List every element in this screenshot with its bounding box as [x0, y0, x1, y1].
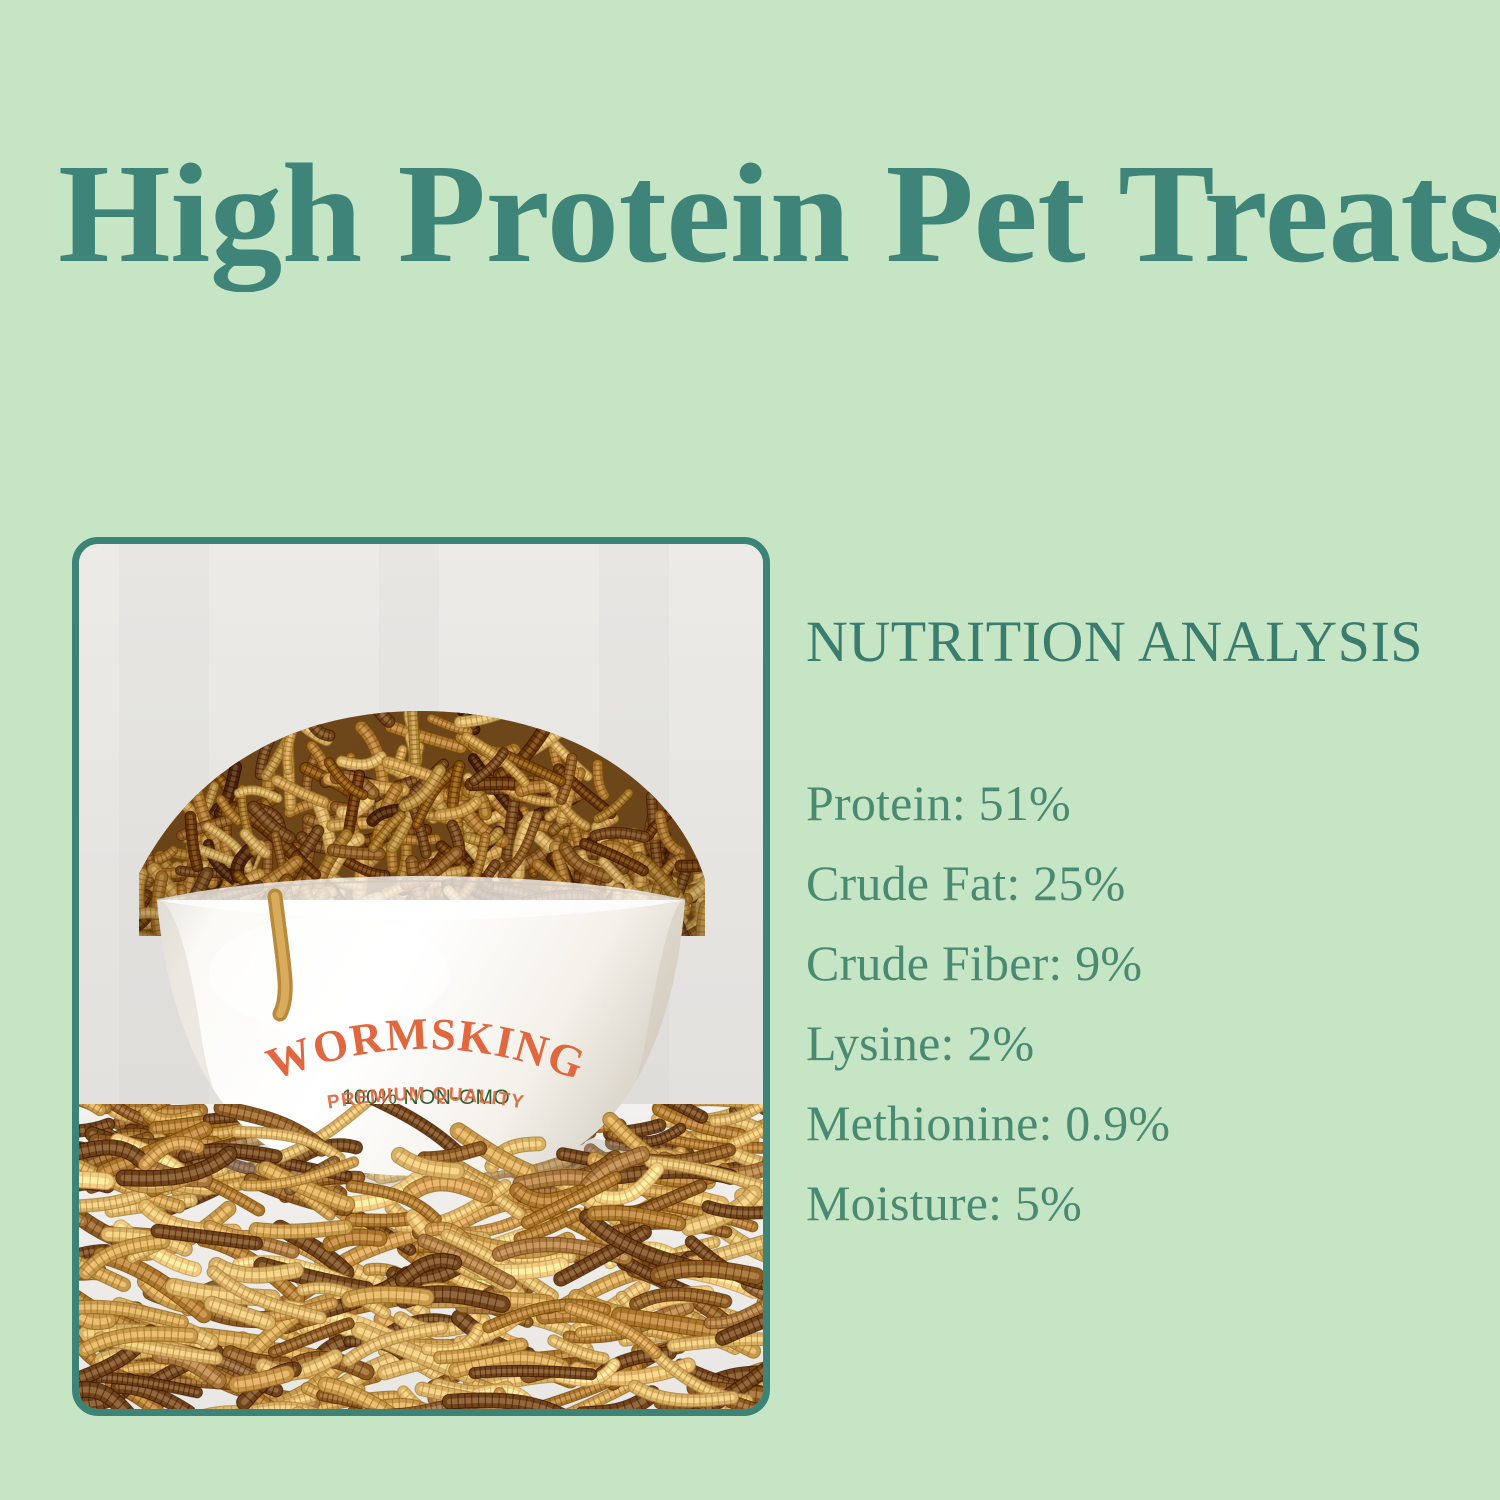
nutrition-item: Protein: 51% [806, 763, 1466, 843]
product-photo-frame: WORMSKING 100% NON-GMO PREMIUM QUALITY [72, 537, 770, 1416]
page-title: High Protein Pet Treats [58, 142, 1486, 284]
product-photo [79, 544, 763, 1409]
nutrition-item: Lysine: 2% [806, 1003, 1466, 1083]
nutrition-list: Protein: 51%Crude Fat: 25%Crude Fiber: 9… [806, 763, 1466, 1243]
nutrition-item: Moisture: 5% [806, 1163, 1466, 1243]
nutrition-item: Crude Fat: 25% [806, 843, 1466, 923]
nutrition-item: Methionine: 0.9% [806, 1083, 1466, 1163]
mealworm-bowl-illustration [79, 544, 763, 1409]
nutrition-item: Crude Fiber: 9% [806, 923, 1466, 1003]
nutrition-panel: NUTRITION ANALYSIS Protein: 51%Crude Fat… [806, 612, 1466, 1243]
product-infographic-page: High Protein Pet Treats [0, 0, 1500, 1500]
nutrition-heading: NUTRITION ANALYSIS [806, 612, 1466, 673]
